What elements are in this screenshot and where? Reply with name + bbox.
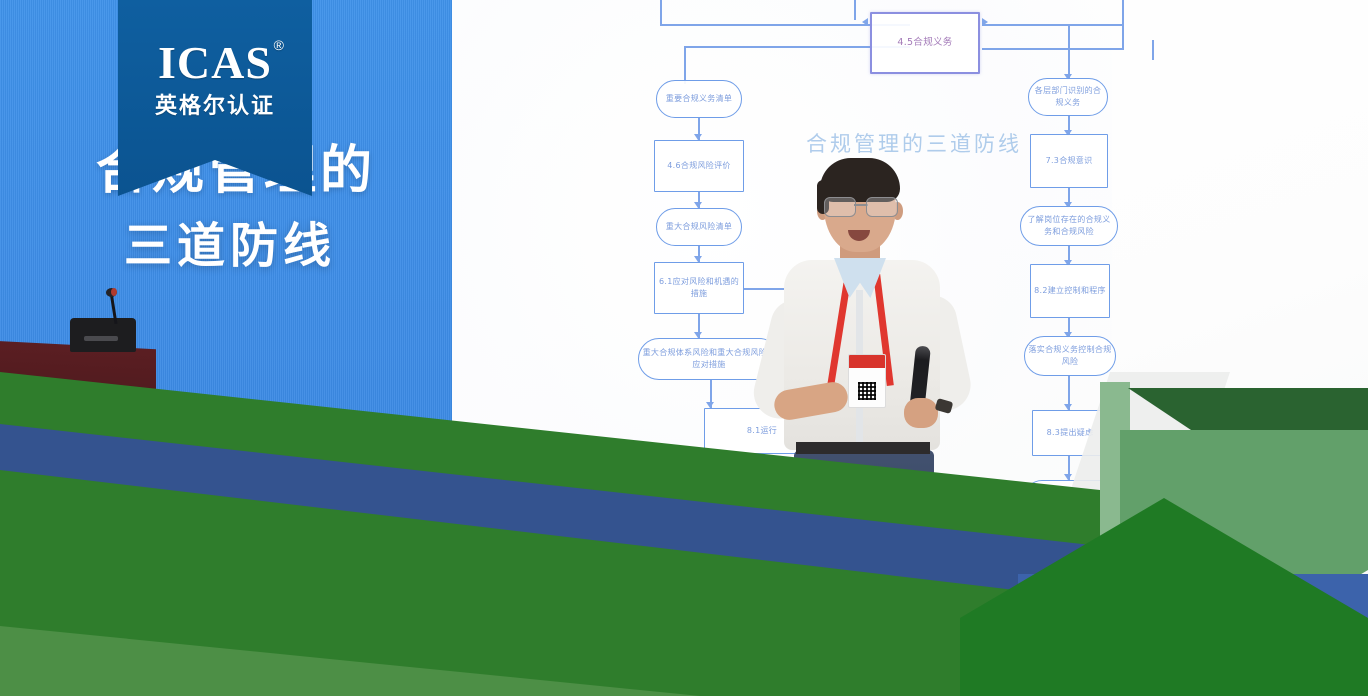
flow-line (660, 0, 662, 26)
conference-badge (848, 354, 886, 408)
presenter-right-hand (904, 398, 938, 428)
eyeglasses-icon (822, 197, 900, 216)
conference-photo-stage: 合规管理的三道防线 4.5合规义务 重要合规义务清单 4.6合规风险评价 重大合… (0, 0, 1368, 696)
qr-code-icon (858, 382, 876, 400)
badge-header (849, 355, 885, 368)
presenter-belt (796, 442, 930, 454)
registered-trademark-icon: ® (274, 38, 285, 52)
icas-wordmark-text: ICAS (158, 37, 272, 88)
lectern-equipment-box (70, 318, 136, 352)
flow-node-risk-opportunity-measures: 6.1应对风险和机遇的措施 (654, 262, 744, 314)
icas-logo-group: ICAS ® 英格尔认证 (118, 0, 312, 160)
flow-node-compliance-risk-evaluation: 4.6合规风险评价 (654, 140, 744, 192)
icas-chinese-name: 英格尔认证 (155, 88, 275, 120)
flow-node-compliance-obligations: 4.5合规义务 (870, 12, 980, 74)
flow-line (1152, 40, 1154, 60)
flow-arrow (982, 18, 988, 26)
flow-line (982, 48, 1124, 50)
flow-node-important-obligation-list: 重要合规义务清单 (656, 80, 742, 118)
flow-node-major-risk-list: 重大合规风险清单 (656, 208, 742, 246)
flow-line (982, 24, 1122, 26)
flow-node-post-obligations-risks: 了解岗位存在的合规义务和合规风险 (1020, 206, 1118, 246)
gooseneck-microphone-head (106, 288, 117, 297)
flow-node-establish-controls-procedures: 8.2建立控制和程序 (1030, 264, 1110, 318)
icas-wordmark: ICAS ® (158, 40, 272, 86)
flow-line (684, 46, 686, 84)
flow-node-implement-obligations: 落实合规义务控制合规风险 (1024, 336, 1116, 376)
flow-line (1068, 24, 1070, 48)
flow-node-compliance-awareness: 7.3合规意识 (1030, 134, 1108, 188)
flow-line (854, 0, 856, 20)
flow-node-department-identified-obligations: 各层部门识别的合规义务 (1028, 78, 1108, 116)
flow-arrow (862, 18, 868, 26)
flow-line (1122, 0, 1124, 48)
presenter-hair (820, 158, 900, 202)
overlay-title-line-2: 三道防线 (124, 206, 336, 276)
